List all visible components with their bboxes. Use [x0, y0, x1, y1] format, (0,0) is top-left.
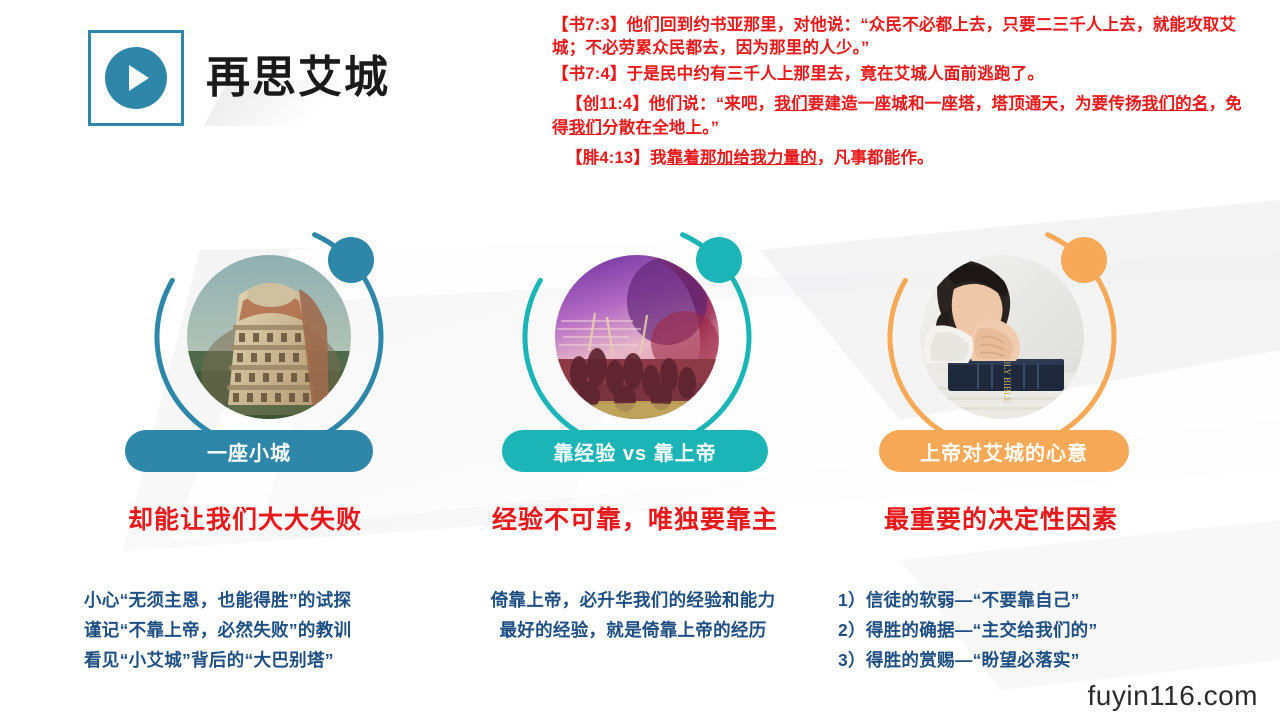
- verse-phil-4-13: 【腓4:13】我靠着那加给我力量的，凡事都能作。: [552, 147, 1242, 170]
- page-title: 再思艾城: [206, 56, 390, 100]
- body-text-line: 谨记“不靠上帝，必然失败”的教训: [84, 615, 351, 645]
- logo-frame: [88, 30, 184, 126]
- body-text-line: 小心“无须主恩，也能得胜”的试探: [84, 585, 351, 615]
- body-text-two: 倚靠上帝，必升华我们的经验和能力最好的经验，就是倚靠上帝的经历: [462, 585, 804, 645]
- body-text-line: 1）信徒的软弱—“不要靠自己”: [838, 585, 1098, 615]
- column-one: 一座小城: [122, 212, 412, 512]
- verse-reference: 【书7:3】: [552, 16, 627, 34]
- ring-two: [512, 212, 762, 462]
- site-watermark: fuyin116.com: [1088, 680, 1258, 712]
- play-button-icon: [105, 47, 167, 109]
- body-text-line: 看见“小艾城”背后的“大巴别塔”: [84, 645, 351, 675]
- verse-text: 我: [650, 149, 667, 167]
- verse-gen-11-4: 【创11:4】他们说：“来吧，我们要建造一座城和一座塔，塔顶通天，为要传扬我们的…: [552, 93, 1242, 140]
- verse-text: 他们说：“来吧，: [649, 95, 774, 113]
- body-text-line: 2）得胜的确据—“主交给我们的”: [838, 615, 1098, 645]
- verse-reference: 【创11:4】: [566, 95, 649, 113]
- headline-three: 最重要的决定性因素: [884, 500, 1118, 536]
- body-text-line: 3）得胜的赏赐—“盼望必落实”: [838, 645, 1098, 675]
- verse-reference: 【书7:4】: [552, 65, 627, 83]
- verse-text: 于是民中约有三千人上那里去，竟在艾城人面前逃跑了。: [627, 65, 1045, 83]
- verse-emphasis: 我们: [774, 95, 807, 113]
- verse-josh-7-4: 【书7:4】于是民中约有三千人上那里去，竟在艾城人面前逃跑了。: [552, 63, 1242, 86]
- tower-of-babel-painting: [187, 255, 351, 419]
- praying-person-with-bible-photo: HOLY BIBLE: [920, 255, 1084, 419]
- verse-text: 分散在全地上。”: [602, 119, 719, 137]
- three-column-group: 一座小城: [0, 212, 1280, 532]
- column-two: 靠经验 vs 靠上帝: [490, 212, 780, 512]
- verse-text: ，凡事都能作。: [817, 149, 934, 167]
- battle-scene-painting: [555, 255, 719, 419]
- verse-josh-7-3: 【书7:3】他们回到约书亚那里，对他说：“众民不必都上去，只要二三千人上去，就能…: [552, 14, 1242, 61]
- logo-block: 再思艾城: [88, 28, 388, 128]
- body-text-line: 倚靠上帝，必升华我们的经验和能力: [462, 585, 804, 615]
- headline-one: 却能让我们大大失败: [128, 500, 362, 536]
- verse-emphasis: 我们的名: [1142, 95, 1209, 113]
- ring-three: HOLY BIBLE: [877, 212, 1127, 462]
- verse-text: 要建造一座城和一座塔，塔顶通天，为要传扬: [808, 95, 1142, 113]
- headline-two: 经验不可靠，唯独要靠主: [492, 500, 778, 536]
- ring-one: [144, 212, 394, 462]
- verse-emphasis: 靠着那加给我力量的: [667, 149, 817, 167]
- body-text-three: 1）信徒的软弱—“不要靠自己”2）得胜的确据—“主交给我们的”3）得胜的赏赐—“…: [838, 585, 1098, 675]
- verse-text: 他们回到约书亚那里，对他说：“众民不必都上去，只要二三千人上去，就能攻取艾城；不…: [552, 16, 1236, 57]
- body-text-line: 最好的经验，就是倚靠上帝的经历: [462, 615, 804, 645]
- scripture-block: 【书7:3】他们回到约书亚那里，对他说：“众民不必都上去，只要二三千人上去，就能…: [552, 14, 1242, 173]
- column-three: HOLY BIBLE 上帝对艾城的心意: [855, 212, 1145, 512]
- verse-reference: 【腓4:13】: [566, 149, 650, 167]
- body-text-one: 小心“无须主恩，也能得胜”的试探谨记“不靠上帝，必然失败”的教训看见“小艾城”背…: [84, 585, 351, 675]
- slide-header: 再思艾城 【书7:3】他们回到约书亚那里，对他说：“众民不必都上去，只要二三千人…: [0, 0, 1280, 200]
- verse-emphasis: 我们: [569, 119, 602, 137]
- pill-label-three: 上帝对艾城的心意: [879, 430, 1129, 472]
- pill-label-one: 一座小城: [125, 430, 373, 472]
- pill-label-two: 靠经验 vs 靠上帝: [502, 430, 768, 472]
